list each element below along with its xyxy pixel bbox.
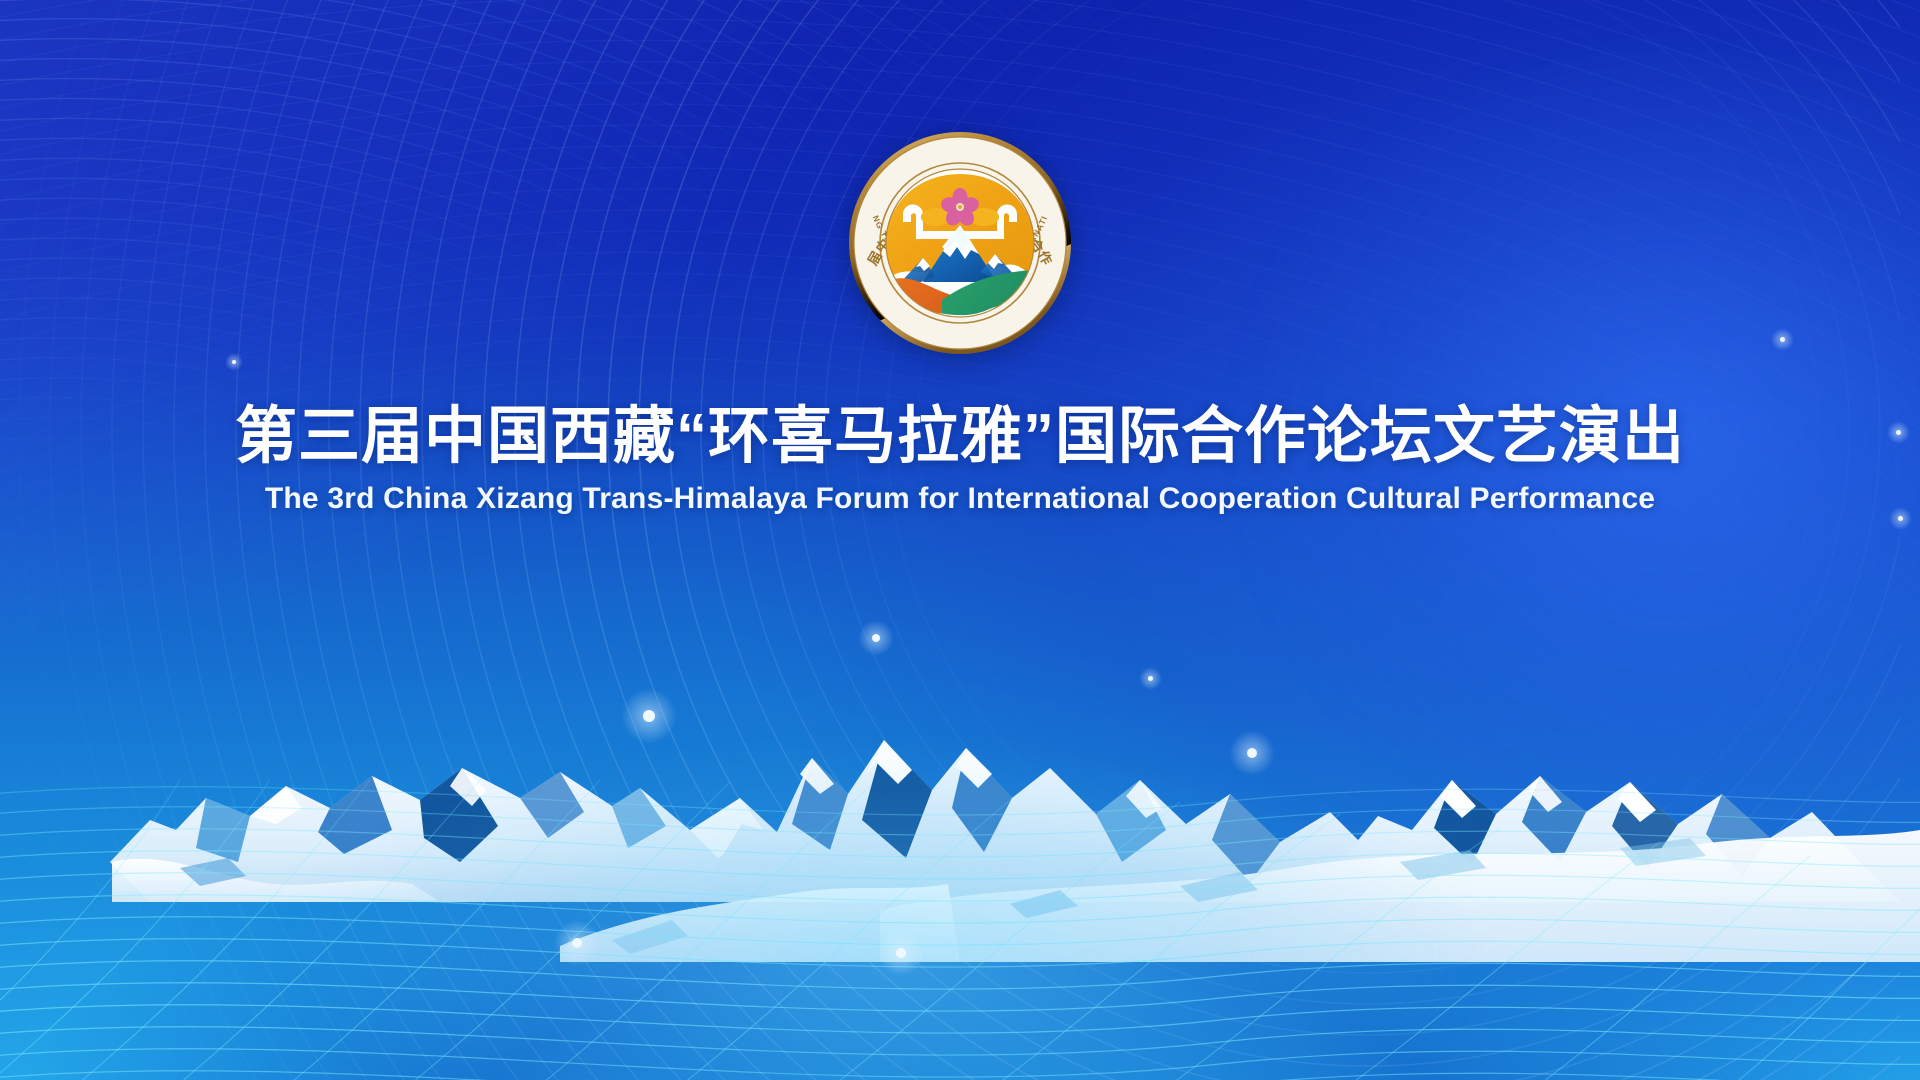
glacier-foreground [560, 830, 1920, 962]
page-title-english: The 3rd China Xizang Trans-Himalaya Foru… [0, 482, 1920, 516]
himalaya-mountain-illustration [0, 562, 1920, 962]
light-wedge-highlight [0, 0, 1300, 659]
title-block: 第三届中国西藏“环喜马拉雅”国际合作论坛文艺演出 The 3rd China X… [0, 404, 1920, 516]
sparkle-dot [896, 948, 906, 958]
sparkle-dot [643, 710, 655, 722]
forum-emblem: 第三届中国西藏“环喜马拉雅”国际合作论坛 THE 3RD CHINA XIZAN… [847, 130, 1073, 356]
mountain-right [1330, 776, 1900, 902]
sparkle-dot [1148, 676, 1153, 681]
mountain-left [110, 768, 900, 902]
poster-backdrop: 第三届中国西藏“环喜马拉雅”国际合作论坛 THE 3RD CHINA XIZAN… [0, 0, 1920, 1080]
sparkle-dot [232, 360, 236, 364]
bottom-center-glow [283, 740, 1483, 1080]
sparkle-dot [1898, 516, 1903, 521]
page-title-chinese: 第三届中国西藏“环喜马拉雅”国际合作论坛文艺演出 [0, 404, 1920, 470]
sparkle-dot [872, 634, 880, 642]
sparkle-dot [1247, 748, 1257, 758]
mountain-center [700, 740, 1420, 902]
cyan-mesh-wave [0, 710, 1920, 1080]
sparkle-dot [1780, 337, 1785, 342]
sparkle-dot [572, 938, 582, 948]
